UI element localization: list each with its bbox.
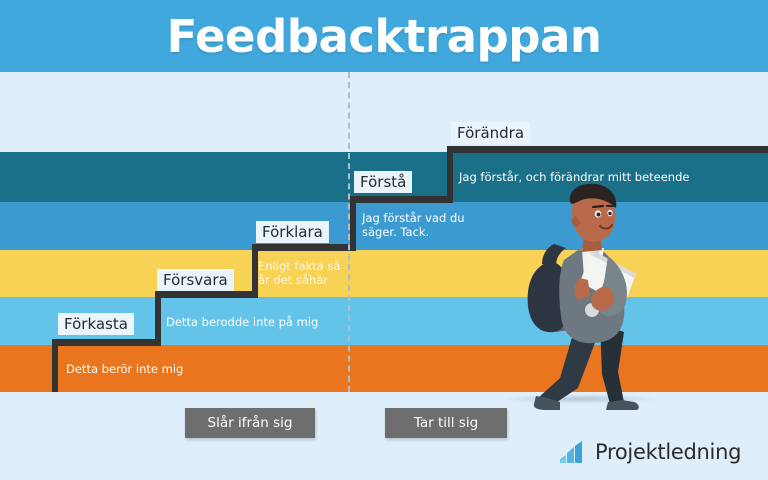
step-outline-1-tread (52, 339, 161, 346)
quote-forklara: Enligt fakta så år det såhär (258, 259, 340, 287)
pill-tar-till-sig: Tar till sig (385, 408, 507, 438)
step-outline-2-tread (155, 291, 258, 298)
step-label-forkasta: Förkasta (58, 313, 134, 335)
bar-chart-icon (560, 441, 590, 463)
step-outline-3-tread (252, 244, 356, 251)
step-label-forsvara: Försvara (157, 269, 234, 291)
step-outline-4-riser (350, 202, 356, 251)
step-outline-1-riser (52, 345, 58, 392)
step-outline-4-tread (350, 196, 453, 203)
quote-forsta: Jag förstår vad du säger. Tack. (362, 211, 465, 239)
header-banner: Feedbacktrappan (0, 0, 768, 72)
page-title: Feedbacktrappan (0, 0, 768, 72)
walking-businessman-illustration (508, 182, 683, 410)
quote-forandra: Jag förstår, och förändrar mitt beteende (459, 170, 689, 184)
brand-name: Projektledning (595, 440, 741, 464)
quote-forsvara: Detta berodde inte på mig (166, 315, 318, 329)
step-outline-5-riser (447, 152, 453, 203)
infographic-canvas: Feedbacktrappan (0, 0, 768, 480)
step-outline-2-riser (155, 297, 161, 345)
brand-logo[interactable]: Projektledning (560, 440, 741, 464)
step-label-forandra: Förändra (451, 122, 530, 144)
divider-dashed-line (348, 72, 350, 392)
step-label-forklara: Förklara (256, 221, 329, 243)
step-outline-5-tread (447, 146, 768, 153)
quote-forkasta: Detta berör inte mig (66, 362, 183, 376)
pill-slar-ifran-sig: Slår ifrån sig (185, 408, 315, 438)
step-label-forsta: Förstå (354, 171, 412, 193)
